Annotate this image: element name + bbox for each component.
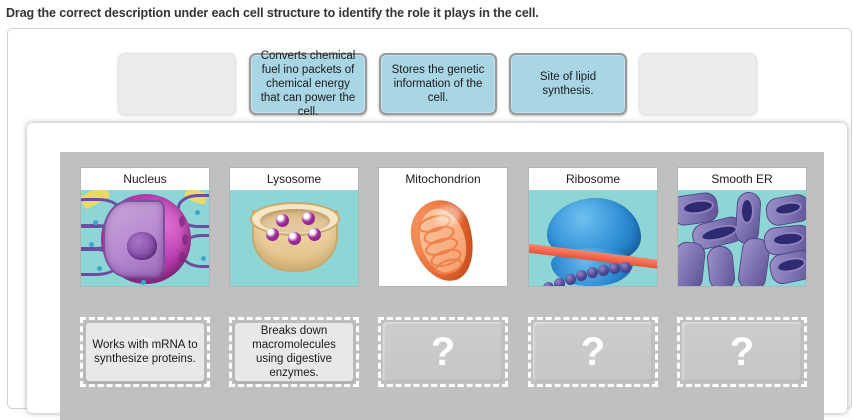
activity-card: Converts chemical fuel ino packets of ch… [7,28,852,409]
instruction-text: Drag the correct description under each … [6,6,846,20]
structure-card-mitochondrion: Mitochondrion [378,167,508,287]
ribosome-dot-icon [195,210,200,215]
structure-label-lysosome: Lysosome [230,168,358,190]
ribosome-dot-icon [89,242,94,247]
structure-card-lysosome: Lysosome [229,167,359,287]
answer-slot-mitochondrion[interactable]: ? [378,317,508,387]
answer-slot-lysosome[interactable]: ? Breaks down macromolecules using diges… [229,317,359,387]
structure-card-ribosome: Ribosome [528,167,658,287]
answer-slot-smooth-er[interactable]: ? [677,317,807,387]
lysosome-illustration [230,190,358,287]
tray-tile-lipid-synthesis-label: Site of lipid synthesis. [517,70,619,98]
answer-slot-nucleus[interactable]: ? Works with mRNA to synthesize proteins… [80,317,210,387]
ribosome-dot-icon [93,220,98,225]
tray-tile-genetic-info[interactable]: Stores the genetic information of the ce… [379,53,497,115]
ribosome-dot-icon [201,256,206,261]
digestive-enzyme-icon [302,212,315,225]
ribosome-illustration [529,190,657,287]
nuclear-pore-icon [182,234,188,245]
description-tray: Converts chemical fuel ino packets of ch… [118,53,758,119]
polypeptide-bead-icon [587,267,598,278]
er-tubule-icon [678,241,706,287]
polypeptide-bead-icon [620,262,631,273]
structure-label-ribosome: Ribosome [529,168,657,190]
digestive-enzyme-icon [308,228,321,241]
matching-area: Nucleus [60,152,824,420]
polypeptide-bead-icon [543,282,554,287]
slot-placeholder-smooth-er: ? [682,332,802,372]
tray-tile-energy-label: Converts chemical fuel ino packets of ch… [257,49,359,119]
structure-card-smooth-er: Smooth ER [677,167,807,287]
answer-text-lysosome: Breaks down macromolecules using digesti… [235,324,353,380]
polypeptide-bead-icon [598,265,609,276]
polypeptide-bead-icon [565,274,576,285]
structure-label-mitochondrion: Mitochondrion [379,168,507,190]
structure-column-mitochondrion: Mitochondrion [378,167,508,287]
slot-placeholder-ribosome: ? [533,332,653,372]
answer-slot-ribosome[interactable]: ? [528,317,658,387]
tray-tile-lipid-synthesis[interactable]: Site of lipid synthesis. [509,53,627,115]
tray-slot-1[interactable] [118,53,236,115]
nucleus-illustration [81,190,209,287]
activity-panel: Nucleus [27,123,847,413]
mitochondrion-illustration [379,190,507,287]
structure-column-lysosome: Lysosome ? Breaks dow [229,167,359,287]
structure-card-nucleus: Nucleus [80,167,210,287]
nuclear-pore-icon [179,252,185,263]
tray-slot-5[interactable] [639,53,757,115]
tray-tile-energy[interactable]: Converts chemical fuel ino packets of ch… [249,53,367,115]
polypeptide-bead-icon [554,278,565,287]
digestive-enzyme-icon [276,214,289,227]
slot-placeholder-mitochondrion: ? [383,332,503,372]
structure-label-smooth-er: Smooth ER [678,168,806,190]
er-tubule-icon [706,245,736,287]
answer-text-nucleus: Works with mRNA to synthesize proteins. [86,338,204,366]
er-lumen-opening-icon [740,198,754,224]
structure-column-ribosome: Ribosome [528,167,658,287]
structure-label-nucleus: Nucleus [81,168,209,190]
nucleolus-icon [127,232,157,260]
mitochondrion-outer-membrane-icon [402,193,483,287]
digestive-enzyme-icon [288,232,301,245]
ribosome-dot-icon [141,280,146,285]
nuclear-pore-icon [179,216,185,227]
polypeptide-bead-icon [576,270,587,281]
structure-column-nucleus: Nucleus [80,167,210,287]
smooth-er-illustration [678,190,806,287]
digestive-enzyme-icon [266,228,279,241]
ribosome-dot-icon [97,266,102,271]
polypeptide-bead-icon [609,263,620,274]
structure-column-smooth-er: Smooth ER [677,167,807,287]
tray-tile-genetic-info-label: Stores the genetic information of the ce… [387,63,489,105]
